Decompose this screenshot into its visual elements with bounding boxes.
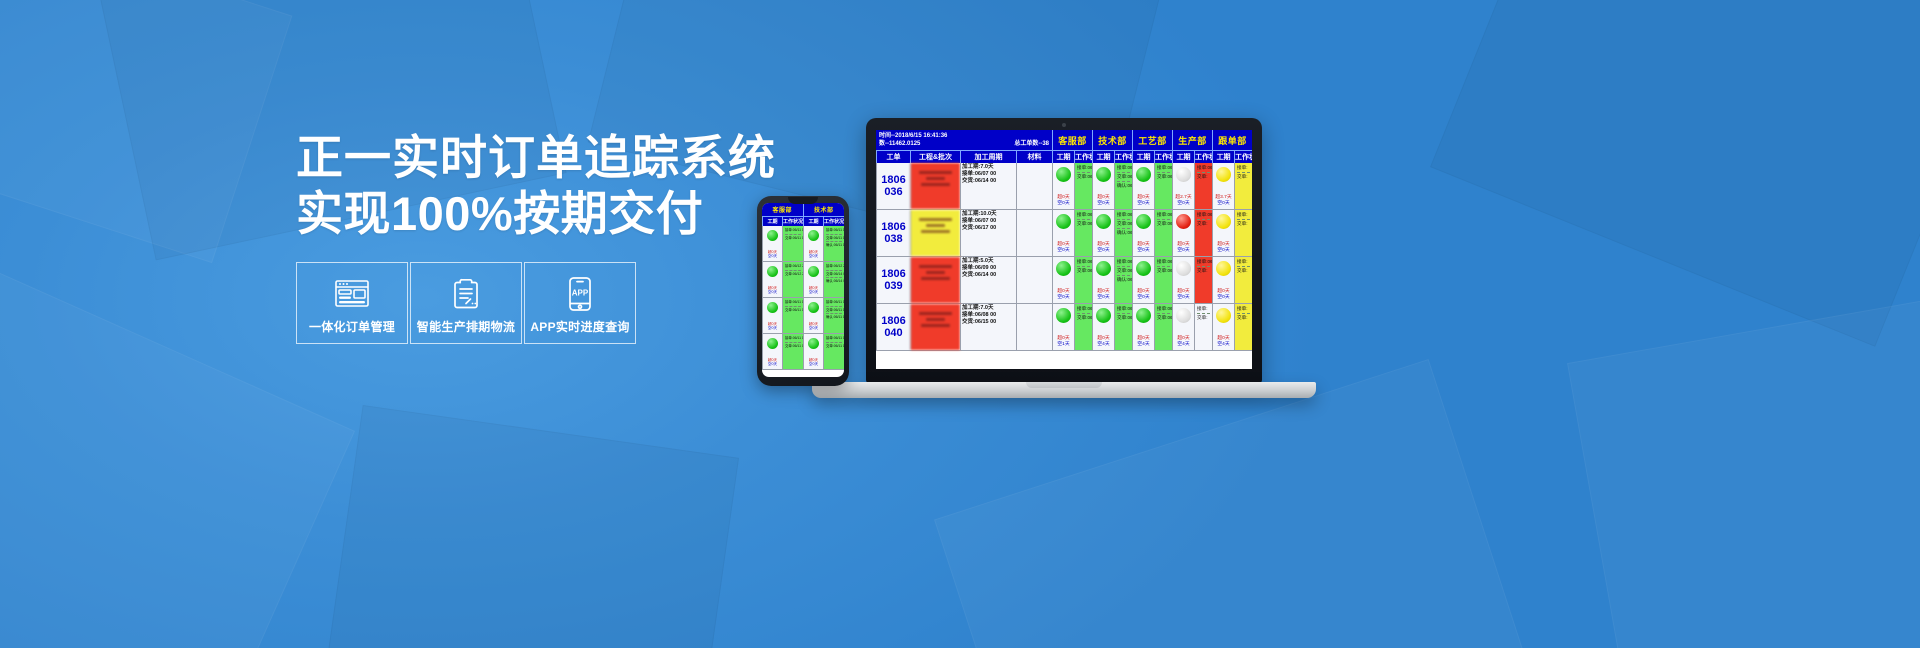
status-line: 接单:06/11 17 bbox=[785, 228, 801, 233]
tag-remaining: 空0天 bbox=[1213, 201, 1234, 207]
phone-cell-status: 接单:06/11 17交单:06/11 17 bbox=[782, 226, 803, 261]
phone-notch bbox=[788, 197, 818, 204]
status-dot-green bbox=[1136, 214, 1151, 229]
dept-header-shengchan: 生产部 bbox=[1172, 130, 1212, 150]
cycle-line: 加工期:10.0天 bbox=[962, 211, 1015, 218]
tag-remaining: 空0天 bbox=[1173, 248, 1194, 254]
cycle-line: 加工期:7.0天 bbox=[962, 164, 1015, 171]
cell-term-工艺部: 超0天空0天 bbox=[1132, 257, 1154, 303]
phone-body: 客服部 技术部 工期 工作状况 工期 工作状况 超0天空0天接单:06/11 1… bbox=[757, 196, 849, 386]
cycle-line: 加工期:7.0天 bbox=[962, 305, 1015, 312]
status-dot-green bbox=[1096, 167, 1111, 182]
banner-root: 正一实时订单追踪系统 实现100%按期交付 一体化订单管理 bbox=[0, 0, 1920, 648]
col-status-shengchan: 工作状况 bbox=[1194, 150, 1212, 163]
cycle-line: 交货:06/14 00 bbox=[962, 272, 1015, 279]
status-dot-green bbox=[1096, 308, 1111, 323]
col-term-jishu: 工期 bbox=[1092, 150, 1114, 163]
cell-status-客服部: 接单:06/11 17交单:06/11 17 bbox=[1074, 304, 1092, 350]
status-line: 接单:06/11 17 bbox=[1077, 165, 1090, 171]
cell-term-技术部: 超0天空4天 bbox=[1092, 304, 1114, 350]
cell-term-客服部: 超0天空0天 bbox=[1052, 257, 1074, 303]
tag-remaining: 空0天 bbox=[763, 326, 782, 331]
status-line: 确认:06/11 17 bbox=[826, 315, 842, 320]
status-line: 接单:06/11 17 bbox=[1117, 259, 1130, 265]
status-line: 交单:06/11 17 bbox=[1077, 268, 1090, 274]
tag-remaining: 空0天 bbox=[763, 362, 782, 367]
status-line: 接单:06/11 17 bbox=[826, 336, 842, 341]
phone-dashboard: 客服部 技术部 工期 工作状况 工期 工作状况 超0天空0天接单:06/11 1… bbox=[762, 203, 844, 377]
cell-term-工艺部: 超0天空0天 bbox=[1132, 210, 1154, 256]
status-line: 接单:06/11 17 bbox=[785, 300, 801, 305]
tag-remaining: 空0天 bbox=[1093, 248, 1114, 254]
status-dot-grey bbox=[1176, 308, 1191, 323]
phone-cell-term: 超0天空0天 bbox=[762, 226, 782, 261]
status-line: 接单:06/11 17 bbox=[1157, 306, 1170, 312]
status-dot-green bbox=[1096, 261, 1111, 276]
cell-material bbox=[1016, 257, 1052, 303]
phone-dept-header-jishu: 技术部 bbox=[803, 203, 845, 216]
status-line: 交单:06/12 20 bbox=[1077, 221, 1090, 227]
cell-material bbox=[1016, 163, 1052, 209]
cell-status-技术部: 接单:06/12 20交单:06/14 00确认:06/14 00 bbox=[1114, 210, 1132, 256]
status-dot-green bbox=[767, 230, 778, 241]
status-line: 接单:06/11 17 bbox=[1077, 306, 1090, 312]
col-cycle: 加工周期 bbox=[960, 150, 1016, 163]
status-line: 交单: bbox=[1197, 221, 1210, 227]
cell-term-客服部: 超0天空0天 bbox=[1052, 163, 1074, 209]
status-line: 接单:06/12 20 bbox=[826, 264, 842, 269]
work-order-suffix: 038 bbox=[881, 233, 905, 245]
col-status-jishu: 工作状况 bbox=[1114, 150, 1132, 163]
tag-remaining: 空0天 bbox=[1133, 201, 1154, 207]
cell-status-跟单部: 接单:交单: bbox=[1234, 210, 1252, 256]
cell-status-跟单部: 接单:交单: bbox=[1234, 257, 1252, 303]
cell-status-生产部: 接单:06/15 16交单: bbox=[1194, 210, 1212, 256]
table-row[interactable]: 1806039加工期:5.0天接单:06/09 00交货:06/14 00超0天… bbox=[876, 257, 1252, 304]
status-dot-green bbox=[1136, 308, 1151, 323]
status-dot-yellow bbox=[1216, 261, 1231, 276]
status-dot-grey bbox=[1176, 261, 1191, 276]
cell-term-技术部: 超0天空0天 bbox=[1092, 210, 1114, 256]
status-dot-green bbox=[808, 266, 819, 277]
phone-cell-status: 接单:06/11 17交单:06/11 17 bbox=[782, 334, 803, 369]
status-line: 接单:06/11 17 bbox=[1117, 306, 1130, 312]
dashboard-header: 时间--2018/6/15 16:41:36 数--11462.0125 总工单… bbox=[876, 130, 1252, 150]
cycle-line: 接单:06/08 00 bbox=[962, 312, 1015, 319]
cycle-line: 交货:06/17 00 bbox=[962, 225, 1015, 232]
tag-remaining: 空0天 bbox=[1213, 248, 1234, 254]
phone-cell-status: 接单:06/11 17交单:06/11 17 bbox=[823, 334, 844, 369]
status-line: 交单:06/11 17 bbox=[1077, 315, 1090, 321]
phone-cell-term: 超0天空0天 bbox=[803, 334, 823, 369]
cell-work-order: 1806040 bbox=[876, 304, 910, 350]
tag-remaining: 空0天 bbox=[1173, 201, 1194, 207]
status-line: 交单:06/14 00 bbox=[826, 272, 842, 277]
phone-table-row[interactable]: 超0天空0天接单:06/12 20交单:06/12 20超0天空0天接单:06/… bbox=[762, 262, 844, 298]
cell-term-技术部: 超0天空0天 bbox=[1092, 163, 1114, 209]
cycle-line: 接单:06/07 00 bbox=[962, 171, 1015, 178]
phone-cell-status: 接单:06/11 17交单:06/11 17确认:06/11 17 bbox=[823, 298, 844, 333]
dashboard-counter: 数--11462.0125 bbox=[879, 140, 920, 148]
status-line: 接单:06/15 16 bbox=[1197, 212, 1210, 218]
cell-term-跟单部: 超0天空0天 bbox=[1212, 210, 1234, 256]
phone-col-status-jishu: 工作状况 bbox=[823, 216, 844, 226]
cell-status-客服部: 接单:06/11 17交单:06/11 17 bbox=[1074, 163, 1092, 209]
tag-remaining: 空4天 bbox=[1173, 342, 1194, 348]
cell-term-生产部: 超2.7天空0天 bbox=[1172, 163, 1194, 209]
col-term-shengchan: 工期 bbox=[1172, 150, 1194, 163]
phone-col-status-kefu: 工作状况 bbox=[782, 216, 803, 226]
status-line: 接单: bbox=[1197, 306, 1210, 312]
phone-column-headers: 工期 工作状况 工期 工作状况 bbox=[762, 216, 844, 226]
status-dot-green bbox=[767, 338, 778, 349]
tag-remaining: 空0天 bbox=[1133, 295, 1154, 301]
work-order-prefix: 1806 bbox=[881, 268, 905, 280]
phone-table-row[interactable]: 超0天空0天接单:06/11 17交单:06/11 17超0天空0天接单:06/… bbox=[762, 298, 844, 334]
cell-status-工艺部: 接单:06/11 17交单:06/12 09 bbox=[1154, 257, 1172, 303]
tag-remaining: 空0天 bbox=[1173, 295, 1194, 301]
phone-col-term-kefu: 工期 bbox=[762, 216, 782, 226]
phone-cell-status: 接单:06/11 17交单:06/11 17确认:06/11 17 bbox=[823, 226, 844, 261]
laptop-trackpad-notch bbox=[1026, 382, 1102, 388]
col-status-gongyi: 工作状况 bbox=[1154, 150, 1172, 163]
cell-term-生产部: 超0天空0天 bbox=[1172, 257, 1194, 303]
status-line: 交单: bbox=[1237, 268, 1250, 274]
work-order-prefix: 1806 bbox=[881, 174, 905, 186]
cycle-line: 交货:06/14 00 bbox=[962, 178, 1015, 185]
tag-remaining: 空0天 bbox=[1093, 201, 1114, 207]
tag-remaining: 空0天 bbox=[1053, 248, 1074, 254]
cell-project-batch bbox=[910, 257, 960, 303]
phone-col-term-jishu: 工期 bbox=[803, 216, 823, 226]
status-dot-red bbox=[1176, 214, 1191, 229]
status-line: 交单:06/11 17 bbox=[826, 344, 842, 349]
col-project-batch: 工程&批次 bbox=[910, 150, 960, 163]
cell-project-batch bbox=[910, 210, 960, 256]
laptop-screen: 时间--2018/6/15 16:41:36 数--11462.0125 总工单… bbox=[876, 130, 1252, 369]
col-term-gendan: 工期 bbox=[1212, 150, 1234, 163]
cell-status-生产部: 接单:06/12 09交单: bbox=[1194, 257, 1212, 303]
status-line: 交单: bbox=[1237, 221, 1250, 227]
phone-table-row[interactable]: 超0天空0天接单:06/11 17交单:06/11 17超0天空0天接单:06/… bbox=[762, 334, 844, 370]
cell-project-batch bbox=[910, 163, 960, 209]
status-line: 交单:06/14 08 bbox=[1157, 221, 1170, 227]
work-order-prefix: 1806 bbox=[881, 315, 905, 327]
status-line: 交单:06/11 17 bbox=[1077, 174, 1090, 180]
cell-term-跟单部: 超3.7天空0天 bbox=[1212, 163, 1234, 209]
laptop-device: 时间--2018/6/15 16:41:36 数--11462.0125 总工单… bbox=[866, 118, 1266, 418]
col-term-kefu: 工期 bbox=[1052, 150, 1074, 163]
work-order-suffix: 036 bbox=[881, 186, 905, 198]
dashboard: 时间--2018/6/15 16:41:36 数--11462.0125 总工单… bbox=[876, 130, 1252, 369]
status-line: 接单: bbox=[1237, 259, 1250, 265]
phone-cell-term: 超0天空0天 bbox=[803, 262, 823, 297]
cycle-line: 接单:06/09 00 bbox=[962, 265, 1015, 272]
col-material: 材料 bbox=[1016, 150, 1052, 163]
dept-header-gongyi: 工艺部 bbox=[1132, 130, 1172, 150]
cycle-line: 交货:06/15 00 bbox=[962, 319, 1015, 326]
cell-status-工艺部: 接单:06/14 00交单:06/14 08 bbox=[1154, 210, 1172, 256]
laptop-base bbox=[812, 382, 1316, 398]
cell-term-生产部: 超0天空0天 bbox=[1172, 210, 1194, 256]
status-line: 交单:06/11 17 bbox=[1117, 268, 1130, 274]
status-dot-green bbox=[1056, 261, 1071, 276]
cell-material bbox=[1016, 304, 1052, 350]
status-dot-grey bbox=[1176, 167, 1191, 182]
status-line: 交单: bbox=[1237, 174, 1250, 180]
status-line: 确认:06/11 17 bbox=[1117, 277, 1130, 283]
cell-status-跟单部: 接单:交单: bbox=[1234, 304, 1252, 350]
status-line: 确认:06/11 17 bbox=[1117, 183, 1130, 189]
status-line: 交单:06/11 17 bbox=[1117, 174, 1130, 180]
phone-table-row[interactable]: 超0天空0天接单:06/11 17交单:06/11 17超0天空0天接单:06/… bbox=[762, 226, 844, 262]
cell-status-工艺部: 接单:06/11 17交单:06/12 09 bbox=[1154, 163, 1172, 209]
col-term-gongyi: 工期 bbox=[1132, 150, 1154, 163]
status-line: 接单:06/14 00 bbox=[1157, 212, 1170, 218]
dept-header-gendan: 跟单部 bbox=[1212, 130, 1252, 150]
status-line: 交单: bbox=[1197, 315, 1210, 321]
status-line: 接单:06/11 17 bbox=[1157, 259, 1170, 265]
status-line: 交单:06/11 17 bbox=[1117, 315, 1130, 321]
status-line: 接单:06/11 17 bbox=[785, 336, 801, 341]
phone-cell-status: 接单:06/11 17交单:06/11 17 bbox=[782, 298, 803, 333]
cell-status-客服部: 接单:06/11 17交单:06/11 17 bbox=[1074, 257, 1092, 303]
cell-work-order: 1806038 bbox=[876, 210, 910, 256]
status-line: 交单:06/12 09 bbox=[1157, 174, 1170, 180]
tag-remaining: 空0天 bbox=[1213, 295, 1234, 301]
cell-project-batch bbox=[910, 304, 960, 350]
cycle-line: 接单:06/07 00 bbox=[962, 218, 1015, 225]
cell-work-order: 1806036 bbox=[876, 163, 910, 209]
phone-cell-status: 接单:06/12 20交单:06/12 20 bbox=[782, 262, 803, 297]
tag-remaining: 空1天 bbox=[1053, 342, 1074, 348]
cell-term-生产部: 超0天空4天 bbox=[1172, 304, 1194, 350]
status-line: 交单: bbox=[1197, 268, 1210, 274]
dashboard-rows: 1806036加工期:7.0天接单:06/07 00交货:06/14 00超0天… bbox=[876, 163, 1252, 351]
tag-remaining: 空0天 bbox=[804, 290, 823, 295]
cell-term-客服部: 超0天空0天 bbox=[1052, 210, 1074, 256]
status-dot-green bbox=[808, 302, 819, 313]
cell-term-工艺部: 超0天空4天 bbox=[1132, 304, 1154, 350]
status-line: 交单:06/14 00 bbox=[1117, 221, 1130, 227]
status-line: 确认:06/14 00 bbox=[1117, 230, 1130, 236]
cell-term-客服部: 超0天空1天 bbox=[1052, 304, 1074, 350]
cell-status-工艺部: 接单:06/11 17交单:06/11 17 bbox=[1154, 304, 1172, 350]
work-order-suffix: 039 bbox=[881, 280, 905, 292]
cell-status-客服部: 接单:06/12 20交单:06/12 20 bbox=[1074, 210, 1092, 256]
tag-remaining: 空0天 bbox=[763, 290, 782, 295]
status-line: 确认:06/11 17 bbox=[826, 243, 842, 248]
phone-cell-term: 超0天空0天 bbox=[762, 334, 782, 369]
status-dot-yellow bbox=[1216, 308, 1231, 323]
status-line: 接单:06/11 17 bbox=[826, 300, 842, 305]
cell-term-工艺部: 超0天空0天 bbox=[1132, 163, 1154, 209]
status-line: 交单: bbox=[1197, 174, 1210, 180]
tag-remaining: 空0天 bbox=[1133, 248, 1154, 254]
cycle-line: 加工期:5.0天 bbox=[962, 258, 1015, 265]
status-dot-green bbox=[808, 338, 819, 349]
status-line: 接单:06/11 17 bbox=[1117, 165, 1130, 171]
phone-dashboard-header: 客服部 技术部 bbox=[762, 203, 844, 216]
tag-remaining: 空0天 bbox=[804, 362, 823, 367]
status-line: 交单: bbox=[1237, 315, 1250, 321]
cell-status-技术部: 接单:06/11 17交单:06/11 17 bbox=[1114, 304, 1132, 350]
cell-term-跟单部: 超0天空4天 bbox=[1212, 304, 1234, 350]
status-line: 接单:06/12 20 bbox=[1117, 212, 1130, 218]
work-order-suffix: 040 bbox=[881, 327, 905, 339]
status-line: 接单:06/11 17 bbox=[1077, 259, 1090, 265]
phone-cell-term: 超0天空0天 bbox=[762, 298, 782, 333]
cell-term-技术部: 超0天空0天 bbox=[1092, 257, 1114, 303]
phone-dashboard-rows: 超0天空0天接单:06/11 17交单:06/11 17超0天空0天接单:06/… bbox=[762, 226, 844, 370]
status-dot-green bbox=[1056, 214, 1071, 229]
status-line: 接单: bbox=[1237, 165, 1250, 171]
webcam-icon bbox=[1062, 123, 1066, 127]
cell-status-生产部: 接单:06/12 09交单: bbox=[1194, 163, 1212, 209]
col-work-order: 工单 bbox=[876, 150, 910, 163]
status-dot-green bbox=[1056, 167, 1071, 182]
status-dot-yellow bbox=[1216, 214, 1231, 229]
laptop-lid: 时间--2018/6/15 16:41:36 数--11462.0125 总工单… bbox=[866, 118, 1262, 383]
status-line: 接单:06/12 09 bbox=[1197, 259, 1210, 265]
col-status-gendan: 工作状况 bbox=[1234, 150, 1252, 163]
status-line: 交单:06/11 17 bbox=[785, 236, 801, 241]
status-dot-green bbox=[1056, 308, 1071, 323]
cell-status-生产部: 接单:交单: bbox=[1194, 304, 1212, 350]
status-line: 交单:06/12 20 bbox=[785, 272, 801, 277]
table-row[interactable]: 1806038加工期:10.0天接单:06/07 00交货:06/17 00超0… bbox=[876, 210, 1252, 257]
tag-remaining: 空0天 bbox=[1053, 295, 1074, 301]
tag-remaining: 空0天 bbox=[1093, 295, 1114, 301]
cell-status-技术部: 接单:06/11 17交单:06/11 17确认:06/11 17 bbox=[1114, 163, 1132, 209]
phone-cell-term: 超0天空0天 bbox=[762, 262, 782, 297]
tag-remaining: 空4天 bbox=[1133, 342, 1154, 348]
tag-remaining: 空4天 bbox=[1213, 342, 1234, 348]
cell-processing-cycle: 加工期:7.0天接单:06/07 00交货:06/14 00 bbox=[960, 163, 1016, 209]
status-line: 交单:06/11 17 bbox=[826, 236, 842, 241]
cell-status-技术部: 接单:06/11 17交单:06/11 17确认:06/11 17 bbox=[1114, 257, 1132, 303]
phone-cell-term: 超0天空0天 bbox=[803, 298, 823, 333]
status-line: 交单:06/11 17 bbox=[1157, 315, 1170, 321]
status-dot-yellow bbox=[1216, 167, 1231, 182]
status-line: 交单:06/12 09 bbox=[1157, 268, 1170, 274]
status-dot-green bbox=[1136, 261, 1151, 276]
phone-device: 客服部 技术部 工期 工作状况 工期 工作状况 超0天空0天接单:06/11 1… bbox=[757, 196, 849, 386]
device-group: 时间--2018/6/15 16:41:36 数--11462.0125 总工单… bbox=[0, 0, 1920, 648]
status-line: 交单:06/11 17 bbox=[785, 344, 801, 349]
status-dot-green bbox=[808, 230, 819, 241]
status-line: 确认:06/14 00 bbox=[826, 279, 842, 284]
tag-remaining: 空0天 bbox=[804, 254, 823, 259]
status-line: 接单:06/12 20 bbox=[1077, 212, 1090, 218]
status-line: 接单: bbox=[1237, 212, 1250, 218]
dashboard-total: 总工单数--38 bbox=[1014, 140, 1049, 148]
cell-status-跟单部: 接单:交单: bbox=[1234, 163, 1252, 209]
dashboard-meta: 时间--2018/6/15 16:41:36 数--11462.0125 总工单… bbox=[876, 130, 1052, 150]
status-line: 接单: bbox=[1237, 306, 1250, 312]
cell-term-跟单部: 超0天空0天 bbox=[1212, 257, 1234, 303]
phone-dept-header-kefu: 客服部 bbox=[762, 203, 803, 216]
dashboard-column-headers: 工单 工程&批次 加工周期 材料 工期 工作状况 工期 工作状况 工期 工作状况… bbox=[876, 150, 1252, 163]
cell-processing-cycle: 加工期:5.0天接单:06/09 00交货:06/14 00 bbox=[960, 257, 1016, 303]
status-dot-green bbox=[1096, 214, 1111, 229]
tag-remaining: 空0天 bbox=[804, 326, 823, 331]
status-line: 接单:06/11 17 bbox=[1157, 165, 1170, 171]
dept-header-kefu: 客服部 bbox=[1052, 130, 1092, 150]
table-row[interactable]: 1806040加工期:7.0天接单:06/08 00交货:06/15 00超0天… bbox=[876, 304, 1252, 351]
phone-cell-status: 接单:06/12 20交单:06/14 00确认:06/14 00 bbox=[823, 262, 844, 297]
col-status-kefu: 工作状况 bbox=[1074, 150, 1092, 163]
dept-header-jishu: 技术部 bbox=[1092, 130, 1132, 150]
phone-screen: 客服部 技术部 工期 工作状况 工期 工作状况 超0天空0天接单:06/11 1… bbox=[762, 203, 844, 377]
status-dot-green bbox=[767, 302, 778, 313]
status-line: 交单:06/11 17 bbox=[785, 308, 801, 313]
phone-cell-term: 超0天空0天 bbox=[803, 226, 823, 261]
status-dot-green bbox=[1136, 167, 1151, 182]
table-row[interactable]: 1806036加工期:7.0天接单:06/07 00交货:06/14 00超0天… bbox=[876, 163, 1252, 210]
status-line: 接单:06/12 09 bbox=[1197, 165, 1210, 171]
status-line: 接单:06/12 20 bbox=[785, 264, 801, 269]
status-line: 交单:06/11 17 bbox=[826, 308, 842, 313]
status-line: 接单:06/11 17 bbox=[826, 228, 842, 233]
dashboard-time: 时间--2018/6/15 16:41:36 bbox=[879, 132, 1049, 140]
tag-remaining: 空0天 bbox=[763, 254, 782, 259]
status-dot-green bbox=[767, 266, 778, 277]
cell-work-order: 1806039 bbox=[876, 257, 910, 303]
tag-remaining: 空0天 bbox=[1053, 201, 1074, 207]
cell-processing-cycle: 加工期:10.0天接单:06/07 00交货:06/17 00 bbox=[960, 210, 1016, 256]
tag-remaining: 空4天 bbox=[1093, 342, 1114, 348]
cell-processing-cycle: 加工期:7.0天接单:06/08 00交货:06/15 00 bbox=[960, 304, 1016, 350]
work-order-prefix: 1806 bbox=[881, 221, 905, 233]
cell-material bbox=[1016, 210, 1052, 256]
